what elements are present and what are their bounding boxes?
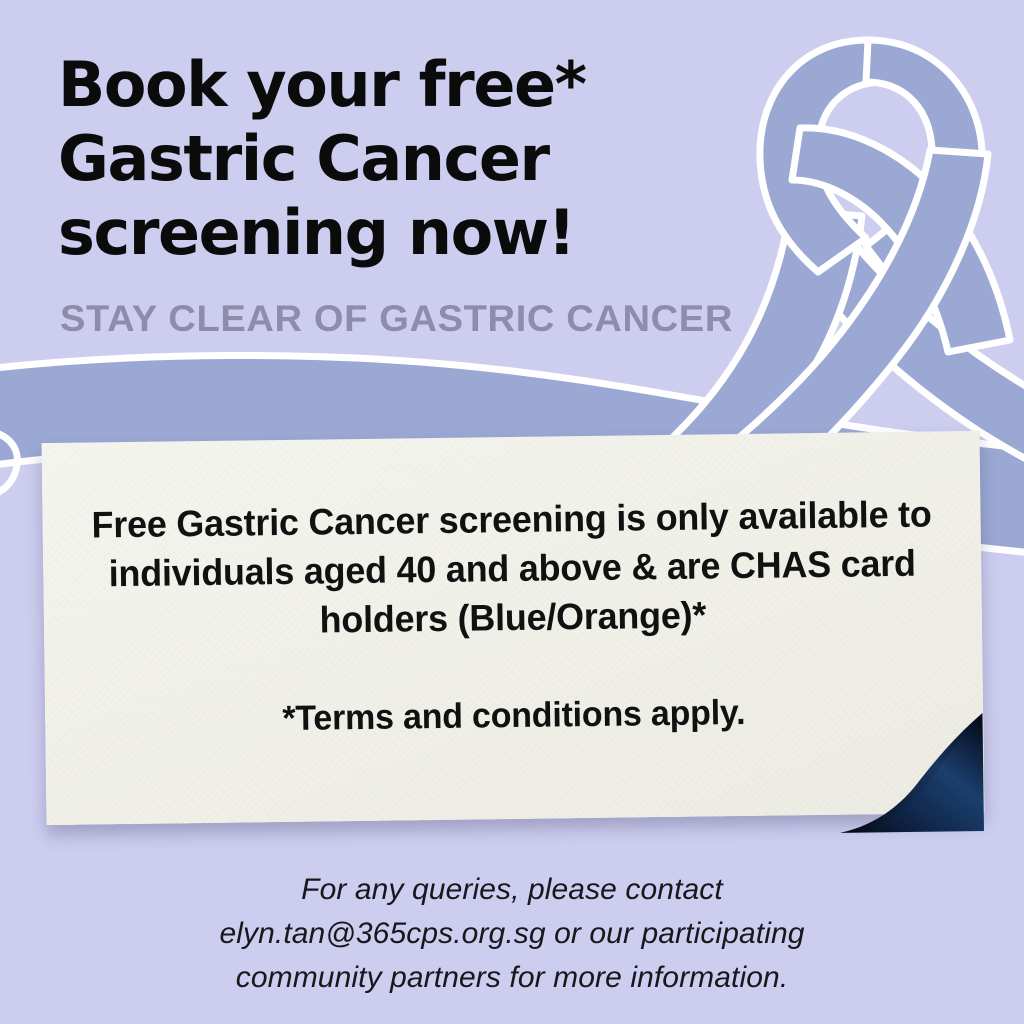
card-terms: *Terms and conditions apply. [282,639,746,741]
footer-contact: For any queries, please contact elyn.tan… [0,868,1024,1000]
subtitle: STAY CLEAR OF GASTRIC CANCER [60,297,733,341]
headline-line-2: Gastric Cancer [58,122,758,196]
card-paragraph: Free Gastric Cancer screening is only av… [84,489,939,647]
headline: Book your free* Gastric Cancer screening… [58,48,758,270]
headline-line-3: screening now! [58,196,758,270]
card-content: Free Gastric Cancer screening is only av… [42,431,985,825]
footer-line-2: elyn.tan@365cps.org.sg or our participat… [0,912,1024,956]
headline-line-1: Book your free* [58,48,758,122]
poster-canvas: Book your free* Gastric Cancer screening… [0,0,1024,1024]
footer-line-3: community partners for more information. [0,956,1024,1000]
info-card: Free Gastric Cancer screening is only av… [44,437,982,827]
footer-line-1: For any queries, please contact [0,868,1024,912]
